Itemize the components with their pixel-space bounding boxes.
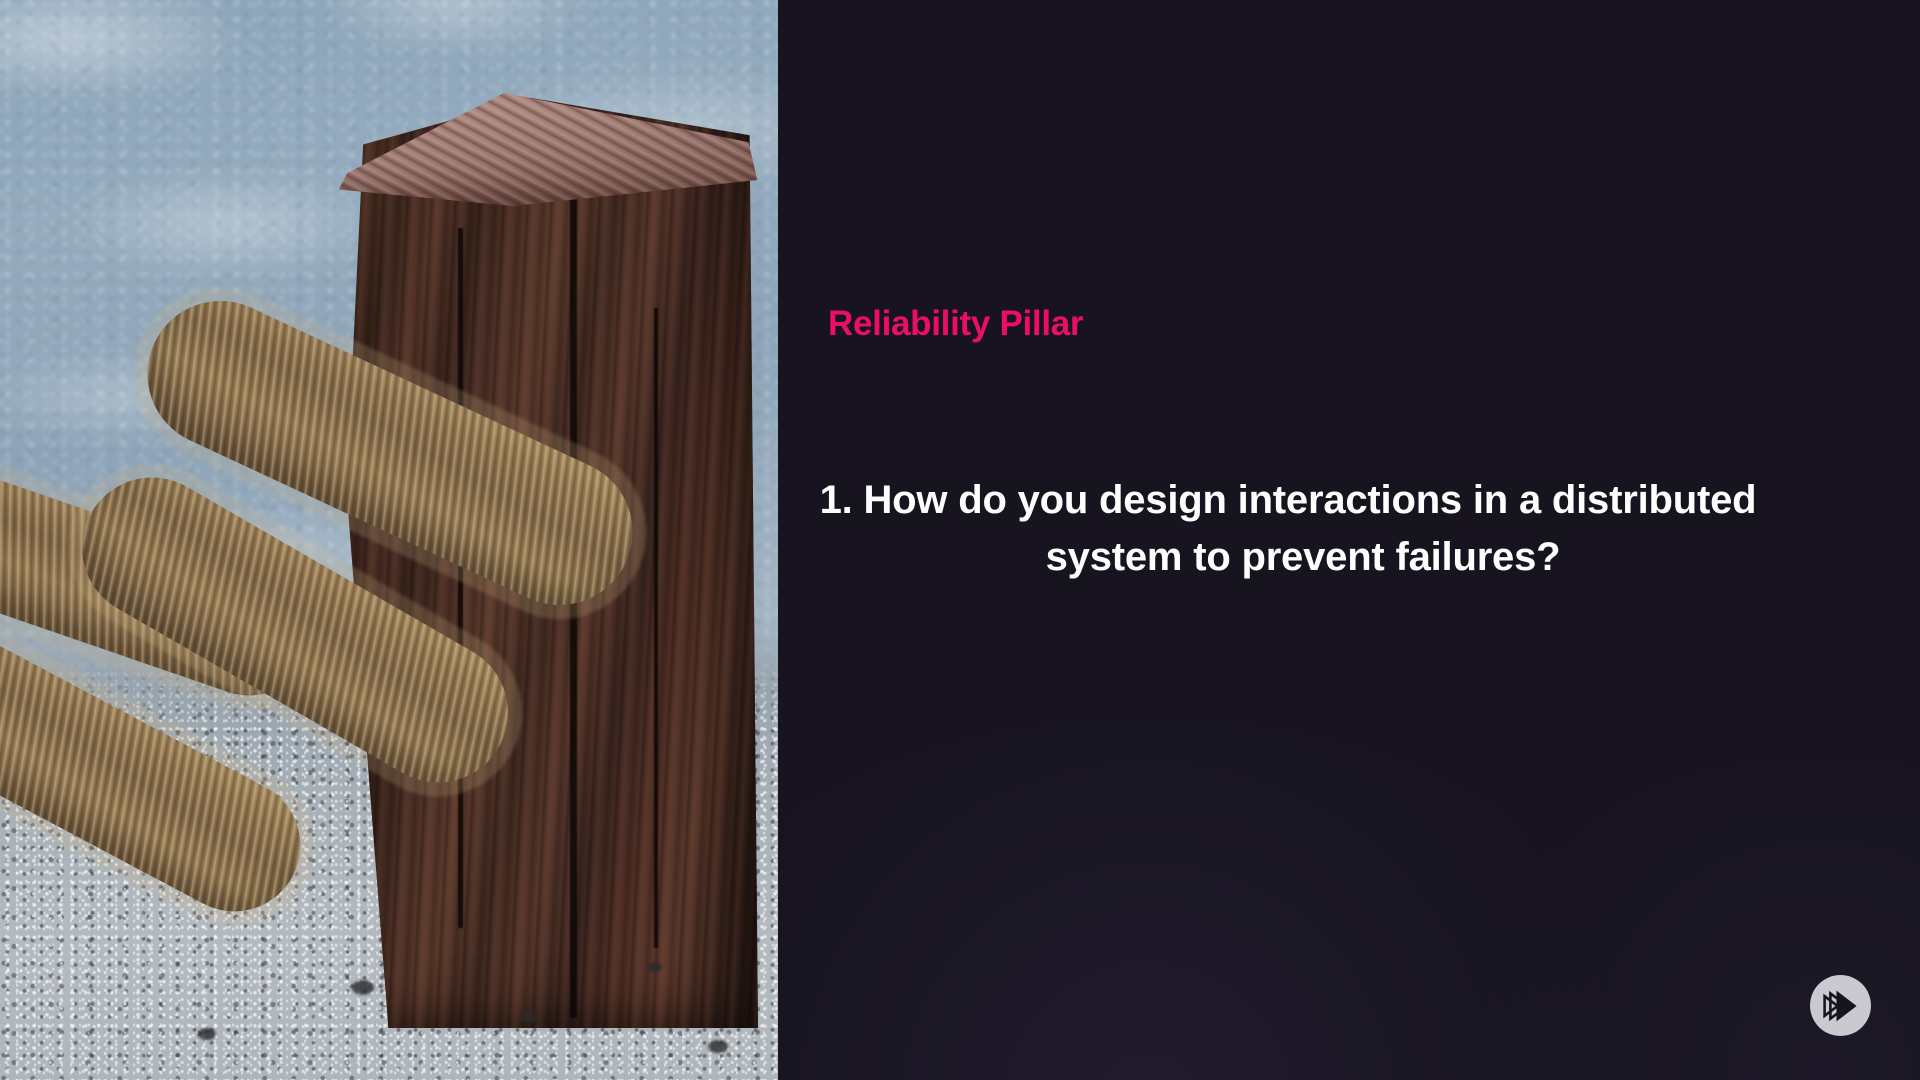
sand-pebble <box>198 1028 216 1040</box>
sand-pebble <box>708 1040 728 1053</box>
wood-crack <box>654 308 658 948</box>
slide-eyebrow-title: Reliability Pillar <box>828 304 1083 344</box>
slide-content: Reliability Pillar 1. How do you design … <box>778 0 1920 1080</box>
sand-pebble <box>352 980 374 995</box>
brand-logo <box>1810 975 1871 1036</box>
pluralsight-play-logo-icon <box>1823 989 1859 1023</box>
slide-photo <box>0 0 778 1080</box>
sand-pebble <box>648 962 662 972</box>
background-glow <box>778 720 1698 1080</box>
sand-pebble <box>520 1012 536 1023</box>
presentation-slide: Reliability Pillar 1. How do you design … <box>0 0 1920 1080</box>
slide-question-text: 1. How do you design interactions in a d… <box>828 472 1778 586</box>
